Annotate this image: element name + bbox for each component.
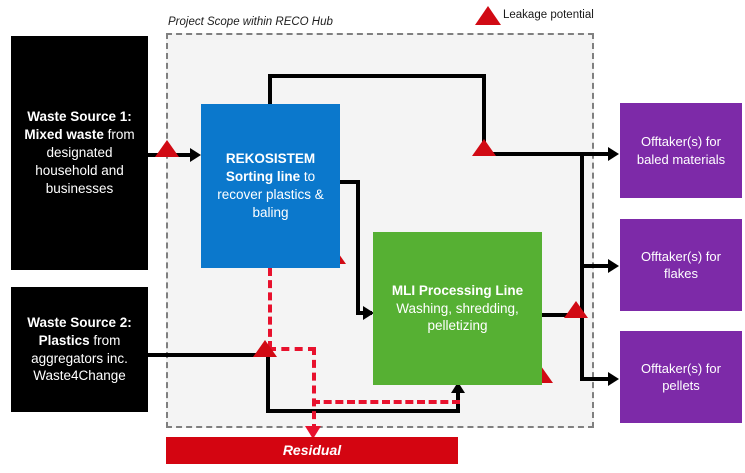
waste-source-2-emphasis: Plastics: [39, 333, 90, 348]
waste-source-2-box[interactable]: Waste Source 2: Plastics from aggregator…: [11, 287, 148, 412]
offtaker-pellets-line1: Offtaker(s) for: [641, 361, 721, 376]
offtaker-baled-materials-box[interactable]: Offtaker(s) for baled materials: [620, 103, 742, 198]
leakage-potential-legend-label: Leakage potential: [503, 9, 594, 21]
residual-box[interactable]: Residual: [166, 437, 458, 464]
offtaker-flakes-line1: Offtaker(s) for: [641, 249, 721, 264]
offtaker-pellets-line2: pellets: [662, 378, 700, 393]
waste-source-1-box[interactable]: Waste Source 1: Mixed waste from designa…: [11, 36, 148, 270]
project-scope-label: Project Scope within RECO Hub: [168, 16, 333, 28]
flow-sorting-to-mli-drop: [356, 180, 360, 315]
mli-processing-line-box[interactable]: MLI Processing Line Washing, shredding, …: [373, 232, 542, 385]
offtaker-baled-line2: baled materials: [637, 152, 725, 167]
flow-arrow-to-baled-materials: [608, 147, 619, 161]
leakage-marker-mli-outlet: [564, 301, 588, 318]
waste-source-2-title: Waste Source 2:: [27, 315, 132, 330]
flow-source2-drop: [266, 353, 270, 411]
leakage-sorting-drop: [268, 268, 272, 349]
flow-source2-bottom-run: [266, 409, 460, 413]
sorting-line-emphasis: Sorting line: [226, 169, 300, 184]
flow-baled-materials-run: [482, 152, 616, 156]
flow-arrow-to-flakes: [608, 259, 619, 273]
mli-title: MLI Processing Line: [392, 283, 523, 298]
sorting-line-title: REKOSISTEM: [226, 151, 315, 166]
offtaker-pellets-box[interactable]: Offtaker(s) for pellets: [620, 331, 742, 423]
offtaker-flakes-box[interactable]: Offtaker(s) for flakes: [620, 219, 742, 311]
flow-arrow-source1-to-sorting: [190, 148, 201, 162]
leakage-potential-legend-icon: [475, 6, 501, 25]
leakage-marker-baled-materials: [472, 139, 496, 156]
flow-sorting-top-riser: [268, 74, 272, 106]
offtaker-baled-line1: Offtaker(s) for: [641, 134, 721, 149]
leakage-marker-source2-inlet: [253, 340, 277, 357]
flow-source2-run: [148, 353, 270, 357]
waste-source-1-emphasis: Mixed waste: [24, 127, 104, 142]
waste-source-1-title: Waste Source 1:: [27, 109, 132, 124]
leakage-mli-run: [312, 400, 460, 404]
leakage-residual-drop: [312, 347, 316, 432]
offtaker-flakes-line2: flakes: [664, 266, 698, 281]
flow-sorting-top-run: [268, 74, 486, 78]
flow-diagram: Project Scope within RECO Hub Leakage po…: [0, 0, 745, 473]
mli-rest: Washing, shredding, pelletizing: [396, 301, 519, 334]
leakage-marker-source1-inlet: [155, 140, 179, 157]
residual-label: Residual: [275, 441, 349, 459]
flow-arrow-to-pellets: [608, 372, 619, 386]
rekosistem-sorting-line-box[interactable]: REKOSISTEM Sorting line to recover plast…: [201, 104, 340, 268]
